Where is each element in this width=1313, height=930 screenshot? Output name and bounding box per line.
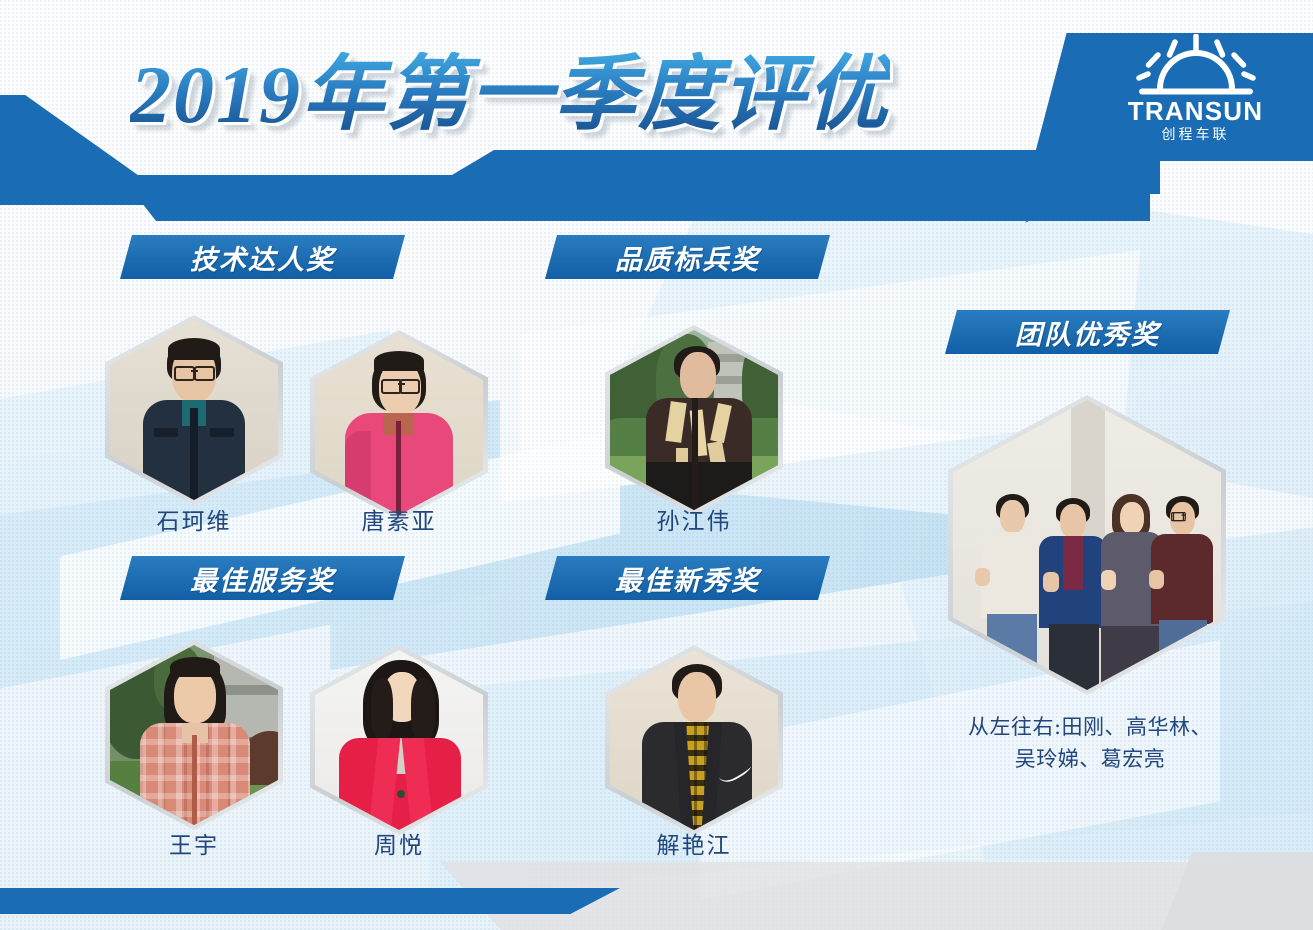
award-banner-best-service: 最佳服务奖 [120,556,405,600]
winner-photo-zhouyue [310,645,488,835]
award-label: 技术达人奖 [190,238,335,277]
team-caption-line2: 吴玲娣、葛宏亮 [940,744,1240,776]
winner-photo-xieyanjiang [605,645,783,835]
logo-wordmark: TRANSUN [1128,98,1264,124]
winner-name-wangyu: 王宇 [105,826,283,860]
nike-swoosh-icon [718,766,752,782]
poster-canvas: TRANSUN 创程车联 2019年第一季度评优 技术达人奖 品质标兵奖 最佳服… [0,0,1313,930]
award-banner-best-newcomer: 最佳新秀奖 [545,556,830,600]
team-photo [948,395,1226,695]
award-banner-team-excellence: 团队优秀奖 [945,310,1230,354]
logo-chinese-name: 创程车联 [1162,127,1230,141]
hex-photo-clip [953,400,1221,690]
award-label: 品质标兵奖 [615,238,760,277]
winner-name-shikewei: 石珂维 [105,502,283,536]
winner-photo-wangyu [105,640,283,830]
winner-name-xieyanjiang: 解艳江 [605,826,783,860]
winner-name-sunjiangwei: 孙江伟 [605,502,783,536]
winner-photo-shikewei [105,315,283,505]
winner-photo-sunjiangwei [605,325,783,515]
award-label: 最佳新秀奖 [615,559,760,598]
award-label: 最佳服务奖 [190,559,335,598]
award-banner-tech-expert: 技术达人奖 [120,235,405,279]
winner-photo-tangsuya [310,330,488,520]
sunrise-icon [1136,34,1256,96]
team-image [953,400,1221,690]
team-caption: 从左往右:田刚、高华林、 吴玲娣、葛宏亮 [940,712,1240,775]
page-title: 2019年第一季度评优 [130,52,890,138]
award-label: 团队优秀奖 [1015,313,1160,352]
winner-name-tangsuya: 唐素亚 [310,502,488,536]
team-caption-line1: 从左往右:田刚、高华林、 [940,712,1240,744]
bg-bar-blue-bottom-left [0,888,620,914]
company-logo: TRANSUN 创程车联 [1108,34,1283,149]
award-banner-quality-pioneer: 品质标兵奖 [545,235,830,279]
winner-name-zhouyue: 周悦 [310,826,488,860]
header-shape-mid [120,175,1150,221]
